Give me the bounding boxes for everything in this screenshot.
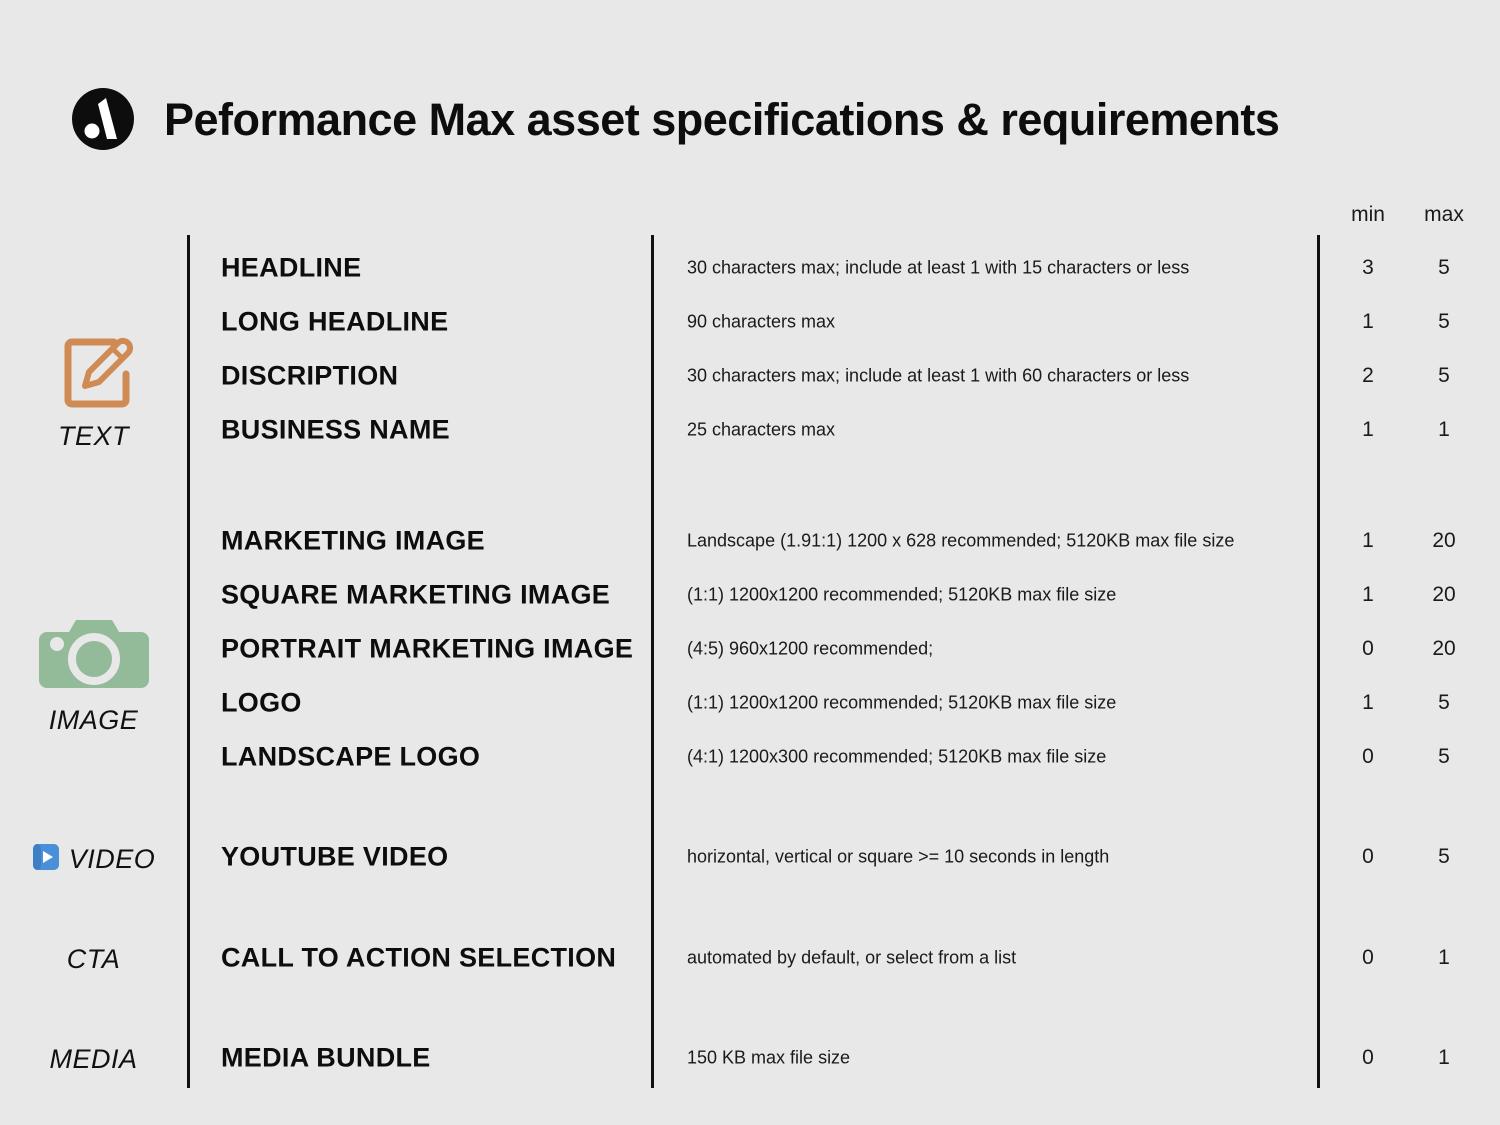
row-requirement-text: 150 KB max file size xyxy=(687,1048,850,1069)
page-title: Peformance Max asset specifications & re… xyxy=(164,97,1279,142)
row-min-value: 0 xyxy=(1333,845,1403,869)
row-max-value: 5 xyxy=(1409,310,1479,334)
row-asset-label: CALL TO ACTION SELECTION xyxy=(221,943,616,974)
page-header: Peformance Max asset specifications & re… xyxy=(72,88,1279,150)
row-asset-label: LANDSCAPE LOGO xyxy=(221,742,480,773)
column-header-min: min xyxy=(1333,203,1403,227)
row-max-value: 5 xyxy=(1409,364,1479,388)
row-max-value: 20 xyxy=(1409,529,1479,553)
row-max-value: 1 xyxy=(1409,946,1479,970)
row-requirement-text: (4:5) 960x1200 recommended; xyxy=(687,639,933,660)
divider-right xyxy=(1317,235,1320,1088)
google-ads-logo-icon xyxy=(72,88,134,150)
row-asset-label: HEADLINE xyxy=(221,253,361,284)
category-image: IMAGE xyxy=(0,612,187,736)
row-requirement-text: 90 characters max xyxy=(687,312,835,333)
row-asset-label: DISCRIPTION xyxy=(221,361,398,392)
row-min-value: 2 xyxy=(1333,364,1403,388)
row-asset-label: LOGO xyxy=(221,688,302,719)
row-max-value: 20 xyxy=(1409,637,1479,661)
row-min-value: 3 xyxy=(1333,256,1403,280)
row-requirement-text: (1:1) 1200x1200 recommended; 5120KB max … xyxy=(687,585,1116,606)
row-asset-label: MEDIA BUNDLE xyxy=(221,1043,431,1074)
column-header-max: max xyxy=(1409,203,1479,227)
row-min-value: 1 xyxy=(1333,310,1403,334)
row-min-value: 0 xyxy=(1333,637,1403,661)
category-media: MEDIA xyxy=(0,1044,187,1075)
row-requirement-text: (4:1) 1200x300 recommended; 5120KB max f… xyxy=(687,747,1106,768)
row-max-value: 5 xyxy=(1409,845,1479,869)
category-label-image: IMAGE xyxy=(49,705,139,736)
row-min-value: 0 xyxy=(1333,745,1403,769)
row-requirement-text: automated by default, or select from a l… xyxy=(687,948,1016,969)
row-asset-label: LONG HEADLINE xyxy=(221,307,448,338)
document-pencil-icon xyxy=(52,328,136,417)
category-label-text: TEXT xyxy=(58,421,129,452)
row-requirement-text: Landscape (1.91:1) 1200 x 628 recommende… xyxy=(687,531,1234,552)
row-min-value: 0 xyxy=(1333,946,1403,970)
camera-icon xyxy=(39,612,149,701)
row-min-value: 0 xyxy=(1333,1046,1403,1070)
category-text: TEXT xyxy=(0,328,187,452)
category-cta: CTA xyxy=(0,944,187,975)
category-video: VIDEO xyxy=(0,843,187,876)
row-requirement-text: 25 characters max xyxy=(687,420,835,441)
row-requirement-text: 30 characters max; include at least 1 wi… xyxy=(687,258,1189,279)
divider-middle xyxy=(651,235,654,1088)
row-min-value: 1 xyxy=(1333,691,1403,715)
row-max-value: 5 xyxy=(1409,256,1479,280)
category-label-media: MEDIA xyxy=(49,1044,137,1075)
category-label-video: VIDEO xyxy=(69,844,156,875)
divider-left xyxy=(187,235,190,1088)
row-asset-label: BUSINESS NAME xyxy=(221,415,450,446)
row-asset-label: SQUARE MARKETING IMAGE xyxy=(221,580,610,611)
row-requirement-text: (1:1) 1200x1200 recommended; 5120KB max … xyxy=(687,693,1116,714)
row-max-value: 1 xyxy=(1409,418,1479,442)
row-max-value: 1 xyxy=(1409,1046,1479,1070)
row-requirement-text: horizontal, vertical or square >= 10 sec… xyxy=(687,847,1109,868)
row-min-value: 1 xyxy=(1333,418,1403,442)
row-max-value: 5 xyxy=(1409,745,1479,769)
row-min-value: 1 xyxy=(1333,529,1403,553)
row-asset-label: PORTRAIT MARKETING IMAGE xyxy=(221,634,633,665)
row-max-value: 20 xyxy=(1409,583,1479,607)
category-label-cta: CTA xyxy=(67,944,121,975)
row-requirement-text: 30 characters max; include at least 1 wi… xyxy=(687,366,1189,387)
play-button-icon xyxy=(32,843,60,876)
row-asset-label: YOUTUBE VIDEO xyxy=(221,842,448,873)
row-asset-label: MARKETING IMAGE xyxy=(221,526,485,557)
row-max-value: 5 xyxy=(1409,691,1479,715)
row-min-value: 1 xyxy=(1333,583,1403,607)
